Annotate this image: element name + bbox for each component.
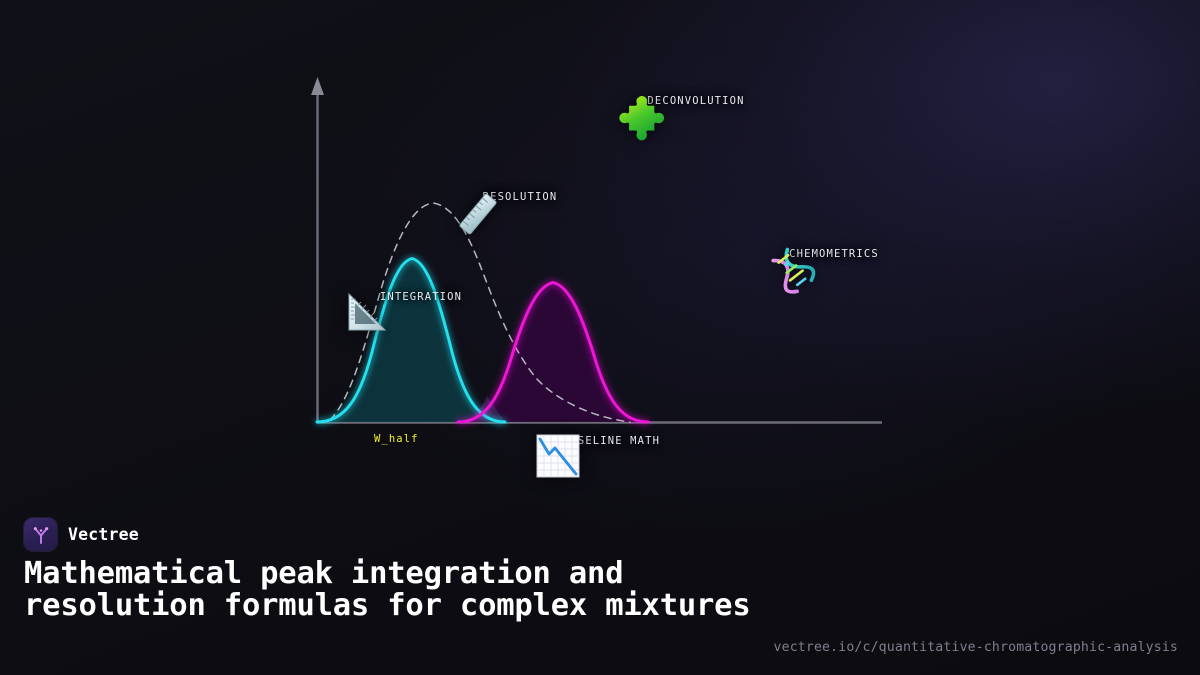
brand-name: Vectree — [68, 525, 139, 544]
node-baseline[interactable]: BASELINE MATH — [534, 432, 689, 447]
footer: Vectree Mathematical peak integration an… — [0, 510, 1200, 675]
source-url: vectree.io/c/quantitative-chromatographi… — [774, 640, 1178, 655]
node-deconvolution[interactable]: DECONVOLUTION — [616, 92, 776, 107]
w-half-label: W_half — [374, 433, 419, 445]
vectree-tree-icon — [24, 518, 57, 551]
page-title: Mathematical peak integration and resolu… — [24, 558, 784, 622]
brand[interactable]: Vectree — [24, 518, 139, 551]
chromatogram-diagram: W_half — [0, 0, 1200, 510]
node-resolution[interactable]: RESOLUTION — [452, 188, 588, 203]
node-integration[interactable]: INTEGRATION — [340, 288, 502, 303]
y-axis — [311, 77, 324, 422]
node-chemometrics[interactable]: CHEMOMETRICS — [767, 245, 901, 260]
